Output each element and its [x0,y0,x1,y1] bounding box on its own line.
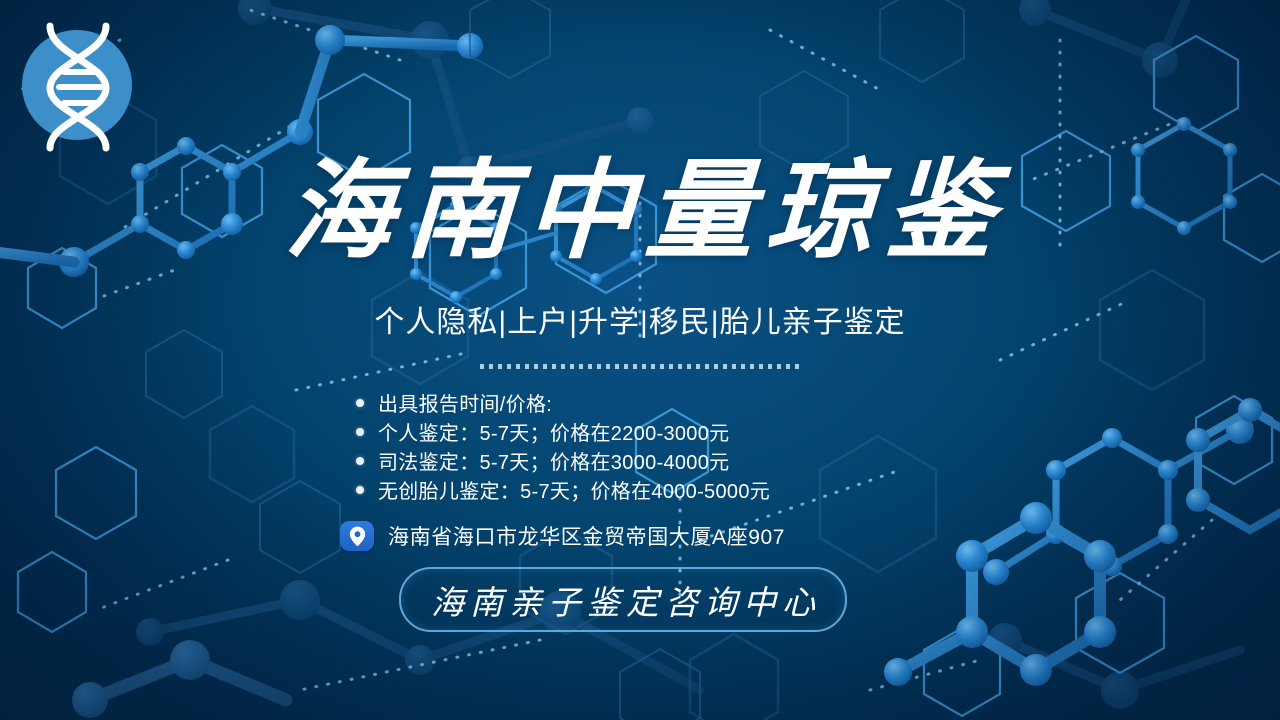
list-item: 无创胎儿鉴定：5-7天；价格在4000-5000元 [356,475,956,504]
list-item-label: 个人鉴定：5-7天；价格在2200-3000元 [378,417,729,446]
list-item: 出具报告时间/价格: [356,388,956,417]
service-list: 出具报告时间/价格: 个人鉴定：5-7天；价格在2200-3000元 司法鉴定：… [356,388,956,504]
consultation-center-button[interactable]: 海南亲子鉴定咨询中心 [399,567,847,632]
address-row: 海南省海口市龙华区金贸帝国大厦A座907 [340,521,785,551]
bullet-dot-icon [356,486,364,494]
poster-root: 海南中量琼鉴 个人隐私|上户|升学|移民|胎儿亲子鉴定 出具报告时间/价格: 个… [0,0,1280,720]
list-item-label: 出具报告时间/价格: [378,388,552,417]
bullet-dot-icon [356,428,364,436]
bullet-dot-icon [356,457,364,465]
page-title: 海南中量琼鉴 [0,150,1280,272]
list-item: 司法鉴定：5-7天；价格在3000-4000元 [356,446,956,475]
list-item-label: 无创胎儿鉴定：5-7天；价格在4000-5000元 [378,475,770,504]
poster-content: 海南中量琼鉴 个人隐私|上户|升学|移民|胎儿亲子鉴定 出具报告时间/价格: 个… [0,0,1280,720]
consultation-center-label: 海南亲子鉴定咨询中心 [425,576,821,624]
list-item: 个人鉴定：5-7天；价格在2200-3000元 [356,417,956,446]
sub-title: 个人隐私|上户|升学|移民|胎儿亲子鉴定 [0,303,1280,343]
address-text: 海南省海口市龙华区金贸帝国大厦A座907 [388,521,785,551]
bullet-dot-icon [356,399,364,407]
location-pin-icon [340,521,374,551]
list-item-label: 司法鉴定：5-7天；价格在3000-4000元 [378,446,729,475]
dotted-divider [480,364,800,369]
